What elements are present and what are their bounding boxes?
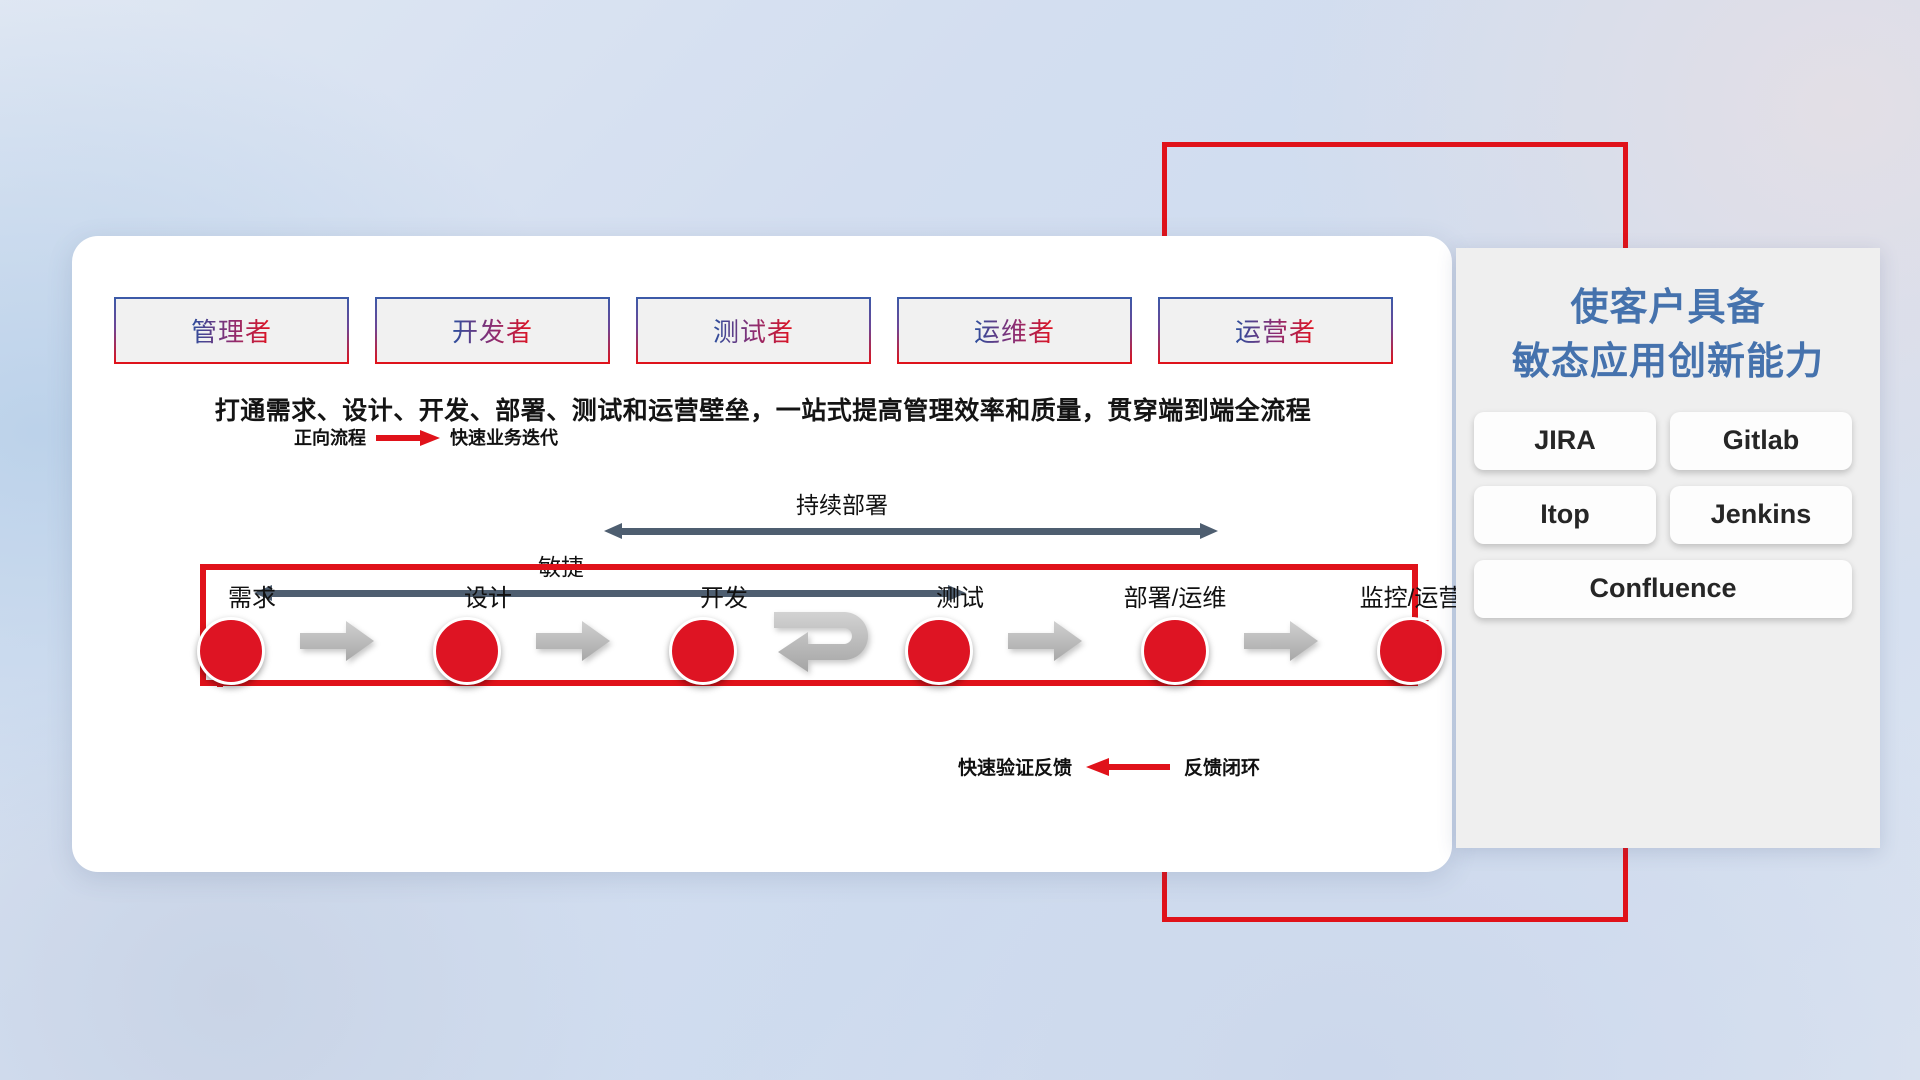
role-box-tester[interactable]: 测试者 xyxy=(636,297,871,364)
tool-chip-label: Confluence xyxy=(1589,573,1736,604)
stage-design[interactable]: 设计 xyxy=(422,578,512,685)
panel-title: 使客户具备 敏态应用创新能力 xyxy=(1456,282,1880,390)
tool-chip-jenkins[interactable]: Jenkins xyxy=(1670,486,1852,544)
stage-dot-icon xyxy=(669,617,737,685)
double-arrow-agile-icon xyxy=(254,585,966,601)
stage-monitor-operate[interactable]: 监控/运营 xyxy=(1366,578,1456,685)
flow-arrow-3-icon xyxy=(1008,621,1082,661)
tool-chip-confluence[interactable]: Confluence xyxy=(1474,560,1852,618)
flow-arrow-1-icon xyxy=(300,621,374,661)
arrow-right-red-icon xyxy=(376,432,440,443)
tool-chip-label: Jenkins xyxy=(1711,499,1812,530)
stage-deploy-ops[interactable]: 部署/运维 xyxy=(1130,578,1220,685)
stage-label: 需求 xyxy=(228,578,276,613)
role-label: 运营者 xyxy=(1235,312,1316,349)
role-label: 开发者 xyxy=(452,312,533,349)
role-label: 运维者 xyxy=(974,312,1055,349)
role-box-operator[interactable]: 运营者 xyxy=(1158,297,1393,364)
role-label: 测试者 xyxy=(713,312,794,349)
flow-arrow-2-icon xyxy=(536,621,610,661)
double-arrow-continuous-deploy-icon xyxy=(604,523,1218,539)
role-box-developer[interactable]: 开发者 xyxy=(375,297,610,364)
panel-title-line-2: 敏态应用创新能力 xyxy=(1456,336,1880,390)
roles-row: 管理者 开发者 测试者 运维者 运营者 xyxy=(114,297,1393,364)
tool-chip-list: JIRA Gitlab Itop Jenkins Confluence xyxy=(1474,412,1862,618)
stage-dot-icon xyxy=(905,617,973,685)
forward-flow-legend: 正向流程 快速业务迭代 xyxy=(294,424,558,450)
stage-label: 监控/运营 xyxy=(1360,578,1463,613)
red-outer-bracket-bottom xyxy=(1162,917,1628,922)
tool-chip-label: Itop xyxy=(1540,499,1589,530)
tool-chip-gitlab[interactable]: Gitlab xyxy=(1670,412,1852,470)
feedback-source-label: 反馈闭环 xyxy=(1184,753,1260,780)
panel-title-line-1: 使客户具备 xyxy=(1456,282,1880,336)
tool-chip-jira[interactable]: JIRA xyxy=(1474,412,1656,470)
stage-label: 开发 xyxy=(700,578,748,613)
loop-back-arrow-icon xyxy=(774,608,884,674)
stage-label: 部署/运维 xyxy=(1124,578,1227,613)
forward-flow-target-label: 快速业务迭代 xyxy=(450,424,558,450)
role-label: 管理者 xyxy=(191,312,272,349)
stage-dot-icon xyxy=(197,617,265,685)
feedback-legend: 快速验证反馈 反馈闭环 xyxy=(958,753,1260,780)
red-loop-top xyxy=(200,564,1418,570)
role-box-ops[interactable]: 运维者 xyxy=(897,297,1132,364)
main-flow-card: 管理者 开发者 测试者 运维者 运营者 打通需求、设计、开发、部署、测试和运营壁… xyxy=(72,236,1452,872)
arrow-left-red-icon xyxy=(1086,761,1170,772)
stage-label: 设计 xyxy=(464,578,512,613)
stage-requirement[interactable]: 需求 xyxy=(186,578,276,685)
stage-label: 测试 xyxy=(936,578,984,613)
red-loop-bottom xyxy=(200,680,1418,686)
stage-dot-icon xyxy=(1141,617,1209,685)
tool-chip-label: JIRA xyxy=(1534,425,1596,456)
tool-chip-itop[interactable]: Itop xyxy=(1474,486,1656,544)
tool-chip-label: Gitlab xyxy=(1723,425,1800,456)
value-proposition-panel: 使客户具备 敏态应用创新能力 JIRA Gitlab Itop Jenkins … xyxy=(1456,248,1880,848)
stage-dot-icon xyxy=(1377,617,1445,685)
flow-arrow-4-icon xyxy=(1244,621,1318,661)
role-box-manager[interactable]: 管理者 xyxy=(114,297,349,364)
tagline-text: 打通需求、设计、开发、部署、测试和运营壁垒，一站式提高管理效率和质量，贯穿端到端… xyxy=(118,391,1408,427)
span-label-continuous-deploy: 持续部署 xyxy=(796,486,888,520)
forward-flow-source-label: 正向流程 xyxy=(294,424,366,450)
stage-dot-icon xyxy=(433,617,501,685)
feedback-target-label: 快速验证反馈 xyxy=(958,753,1072,780)
stage-testing[interactable]: 测试 xyxy=(894,578,984,685)
stage-development[interactable]: 开发 xyxy=(658,578,748,685)
